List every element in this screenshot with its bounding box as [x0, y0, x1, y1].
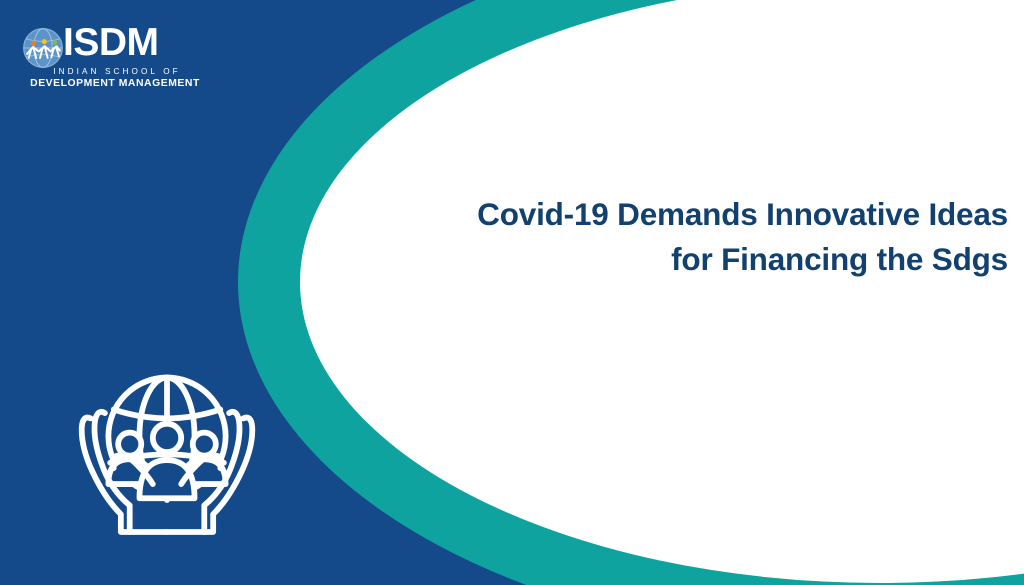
isdm-wordmark: ISDM [63, 22, 203, 64]
page-title-line1: Covid-19 Demands Innovative Ideas [477, 196, 1008, 232]
isdm-globe-people-icon [22, 27, 64, 69]
hands-holding-globe-people-icon [78, 358, 256, 540]
page-title-line2: for Financing the Sdgs [671, 241, 1008, 277]
isdm-tagline-line1: INDIAN SCHOOL OF [32, 67, 202, 77]
isdm-logo: ISDM INDIAN SCHOOL OF DEVELOPMENT MANAGE… [22, 22, 202, 96]
slide-title: Covid-19 Demands Innovative Ideas for Fi… [368, 192, 1008, 282]
slide-canvas: ISDM INDIAN SCHOOL OF DEVELOPMENT MANAGE… [0, 0, 1024, 585]
isdm-tagline-line2: DEVELOPMENT MANAGEMENT [28, 78, 202, 90]
